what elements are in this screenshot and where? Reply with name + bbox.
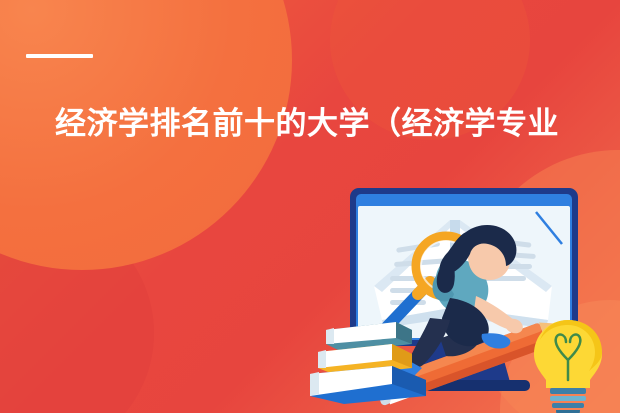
- promo-banner: 经济学排名前十的大学（经济学专业: [0, 0, 620, 413]
- page-title: 经济学排名前十的大学（经济学专业: [55, 104, 620, 144]
- title-accent-rule: [26, 54, 93, 58]
- lightbulb-icon: [534, 320, 602, 413]
- book-stack: [310, 322, 426, 404]
- background-circle-dark-bottom: [0, 208, 154, 413]
- hero-illustration: [300, 168, 620, 413]
